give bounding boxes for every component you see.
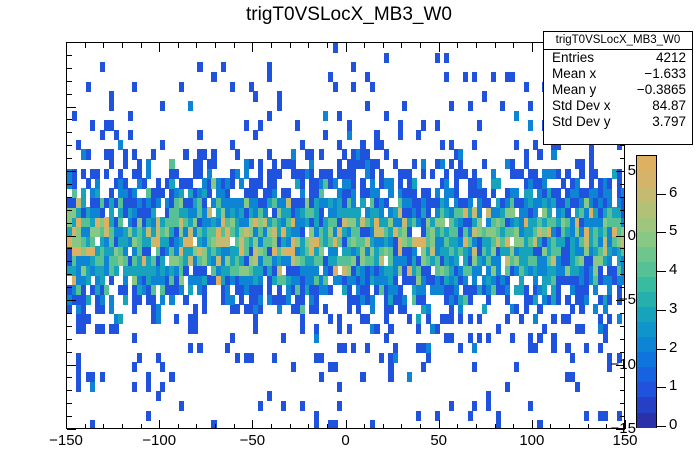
stats-row-key: Entries	[552, 50, 594, 66]
histogram-bin	[109, 295, 114, 305]
histogram-bin	[123, 246, 128, 256]
histogram-bin	[183, 149, 188, 159]
y-minor-tick	[67, 339, 72, 340]
histogram-bin	[556, 285, 561, 295]
histogram-bin	[607, 188, 612, 198]
histogram-bin	[333, 266, 338, 276]
histogram-bin	[156, 198, 161, 208]
x-tick-label: −150	[36, 433, 96, 448]
histogram-bin	[468, 198, 473, 208]
histogram-bin	[258, 169, 263, 179]
histogram-bin	[398, 178, 403, 188]
x-minor-tick	[308, 424, 309, 429]
histogram-bin	[333, 82, 338, 92]
histogram-bin	[579, 169, 584, 179]
x-minor-tick-top	[327, 43, 328, 48]
x-minor-tick-top	[401, 43, 402, 48]
histogram-bin	[589, 159, 594, 169]
histogram-bin	[207, 169, 212, 179]
histogram-bin	[398, 285, 403, 295]
palette-segment	[637, 367, 656, 383]
y-minor-tick-right	[620, 197, 625, 198]
histogram-bin	[356, 207, 361, 217]
histogram-bin	[114, 266, 119, 276]
palette-tick	[657, 426, 666, 427]
histogram-bin	[337, 401, 342, 411]
x-minor-tick	[122, 424, 123, 429]
histogram-bin	[169, 295, 174, 305]
histogram-bin	[435, 324, 440, 334]
histogram-bin	[272, 178, 277, 188]
histogram-bin	[286, 295, 291, 305]
histogram-bin	[202, 285, 207, 295]
histogram-bin	[603, 411, 608, 421]
palette-tick	[657, 232, 666, 233]
histogram-bin	[253, 91, 258, 101]
histogram-bin	[211, 159, 216, 169]
stats-box-rows: Entries4212Mean x−1.633Mean y−0.3865Std …	[544, 50, 692, 130]
histogram-bin	[477, 333, 482, 343]
y-minor-tick	[67, 158, 72, 159]
histogram-bin	[482, 188, 487, 198]
histogram-bin	[370, 169, 375, 179]
histogram-bin	[524, 304, 529, 314]
palette-tick-label: 6	[669, 185, 677, 200]
x-minor-tick	[401, 424, 402, 429]
y-minor-tick	[67, 313, 72, 314]
histogram-bin	[510, 72, 515, 82]
histogram-bin	[351, 198, 356, 208]
histogram-bin	[556, 169, 561, 179]
histogram-bin	[81, 304, 86, 314]
stats-row-key: Std Dev y	[552, 114, 611, 130]
histogram-bin	[281, 333, 286, 343]
histogram-bin	[333, 362, 338, 372]
histogram-bin	[454, 178, 459, 188]
y-minor-tick	[67, 68, 72, 69]
x-major-tick	[66, 420, 67, 429]
histogram-bin	[81, 198, 86, 208]
histogram-bin	[300, 314, 305, 324]
histogram-bin	[486, 401, 491, 411]
histogram-bin	[570, 372, 575, 382]
histogram-bin	[249, 159, 254, 169]
histogram-bin	[258, 120, 263, 130]
histogram-bin	[528, 333, 533, 343]
histogram-bin	[565, 343, 570, 353]
histogram-bin	[123, 295, 128, 305]
palette-segment	[637, 246, 656, 262]
histogram-bin	[109, 101, 114, 111]
histogram-bin	[584, 295, 589, 305]
x-minor-tick-top	[215, 43, 216, 48]
y-major-tick	[67, 236, 76, 237]
histogram-bin	[370, 178, 375, 188]
x-minor-tick-top	[383, 43, 384, 48]
histogram-bin	[598, 266, 603, 276]
histogram-bin	[272, 188, 277, 198]
histogram-bin	[253, 314, 258, 324]
histogram-bin	[156, 304, 161, 314]
histogram-bin	[486, 333, 491, 343]
histogram-bin	[309, 159, 314, 169]
histogram-bin	[505, 314, 510, 324]
y-minor-tick	[67, 326, 72, 327]
histogram-bin	[156, 353, 161, 363]
y-minor-tick	[67, 119, 72, 120]
histogram-bin	[193, 324, 198, 334]
y-minor-tick-right	[620, 416, 625, 417]
histogram-bin	[388, 178, 393, 188]
histogram-bin	[174, 169, 179, 179]
histogram-bin	[468, 411, 473, 421]
histogram-bin	[267, 62, 272, 72]
histogram-bin	[337, 314, 342, 324]
y-major-tick	[67, 365, 76, 366]
histogram-bin	[160, 188, 165, 198]
histogram-bin	[412, 159, 417, 169]
y-major-tick	[67, 429, 76, 430]
y-minor-tick-right	[620, 326, 625, 327]
x-minor-tick-top	[457, 43, 458, 48]
x-major-tick-top	[439, 43, 440, 52]
histogram-bin	[412, 188, 417, 198]
x-minor-tick	[271, 424, 272, 429]
histogram-bin	[207, 207, 212, 217]
histogram-bin	[421, 169, 426, 179]
histogram-bin	[146, 246, 151, 256]
histogram-bin	[300, 188, 305, 198]
histogram-bin	[524, 82, 529, 92]
histogram-bin	[407, 372, 412, 382]
histogram-bin	[188, 237, 193, 247]
x-tick-label: −50	[222, 433, 282, 448]
histogram-bin	[239, 178, 244, 188]
histogram-bin	[570, 304, 575, 314]
histogram-bin	[621, 275, 625, 285]
histogram-bin	[347, 130, 352, 140]
histogram-bin	[109, 91, 114, 101]
histogram-bin	[100, 130, 105, 140]
histogram-bin	[300, 401, 305, 411]
histogram-bin	[156, 314, 161, 324]
histogram-bin	[589, 149, 594, 159]
histogram-bin	[300, 324, 305, 334]
stats-row-value: −0.3865	[637, 82, 686, 98]
x-minor-tick	[327, 424, 328, 429]
histogram-bin	[132, 382, 137, 392]
stats-row-value: −1.633	[644, 66, 686, 82]
histogram-bin	[100, 324, 105, 334]
histogram-bin	[109, 207, 114, 217]
histogram-bin	[454, 188, 459, 198]
histogram-bin	[221, 62, 226, 72]
histogram-bin	[360, 372, 365, 382]
histogram-bin	[458, 343, 463, 353]
histogram-bin	[533, 169, 538, 179]
histogram-bin	[314, 411, 319, 421]
histogram-bin	[528, 120, 533, 130]
histogram-bin	[277, 266, 282, 276]
histogram-bin	[491, 188, 496, 198]
histogram-bin	[556, 295, 561, 305]
histogram-bin	[281, 401, 286, 411]
histogram-bin	[146, 159, 151, 169]
histogram-bin	[435, 120, 440, 130]
histogram-bin	[374, 324, 379, 334]
histogram-bin	[379, 256, 384, 266]
histogram-bin	[347, 304, 352, 314]
histogram-bin	[309, 169, 314, 179]
histogram-bin	[86, 275, 91, 285]
histogram-bin	[235, 149, 240, 159]
histogram-bin	[402, 295, 407, 305]
histogram-bin	[533, 295, 538, 305]
histogram-bin	[486, 198, 491, 208]
histogram-bin	[426, 353, 431, 363]
histogram-bin	[496, 420, 501, 429]
histogram-bin	[514, 140, 519, 150]
y-major-tick	[67, 42, 76, 43]
histogram-bin	[123, 149, 128, 159]
histogram-bin	[267, 391, 272, 401]
x-minor-tick	[141, 424, 142, 429]
histogram-bin	[421, 285, 426, 295]
y-minor-tick-right	[620, 210, 625, 211]
histogram-bin	[109, 120, 114, 130]
histogram-bin	[258, 401, 263, 411]
palette-tick-label: 4	[669, 262, 677, 277]
x-minor-tick-top	[364, 43, 365, 48]
histogram-bin	[258, 304, 263, 314]
y-minor-tick-right	[620, 261, 625, 262]
histogram-bin	[514, 304, 519, 314]
histogram-bin	[81, 188, 86, 198]
histogram-bin	[351, 188, 356, 198]
y-minor-tick-right	[620, 313, 625, 314]
histogram-bin	[146, 372, 151, 382]
histogram-bin	[449, 333, 454, 343]
histogram-bin	[384, 53, 389, 63]
histogram-bin	[384, 149, 389, 159]
histogram-bin	[356, 304, 361, 314]
histogram-bin	[472, 72, 477, 82]
histogram-bin	[496, 324, 501, 334]
histogram-bin	[314, 266, 319, 276]
stats-row: Std Dev y3.797	[544, 114, 692, 130]
palette-tick-label: 5	[669, 223, 677, 238]
histogram-bin	[337, 111, 342, 121]
histogram-bin	[202, 149, 207, 159]
histogram-bin	[468, 333, 473, 343]
histogram-bin	[211, 72, 216, 82]
palette-axis: 0123456	[657, 155, 697, 428]
x-minor-tick	[420, 424, 421, 429]
histogram-bin	[151, 295, 156, 305]
histogram-bin	[114, 130, 119, 140]
histogram-bin	[565, 207, 570, 217]
histogram-bin	[86, 149, 91, 159]
histogram-bin	[449, 304, 454, 314]
histogram-bin	[379, 207, 384, 217]
y-minor-tick	[67, 145, 72, 146]
histogram-bin	[81, 285, 86, 295]
x-minor-tick-top	[234, 43, 235, 48]
histogram-bin	[90, 120, 95, 130]
histogram-bin	[584, 343, 589, 353]
histogram-bin	[114, 324, 119, 334]
histogram-bin	[370, 82, 375, 92]
y-minor-tick-right	[620, 403, 625, 404]
histogram-bin	[426, 314, 431, 324]
histogram-bin	[118, 217, 123, 227]
plot-frame	[66, 42, 625, 429]
histogram-bin	[123, 178, 128, 188]
x-minor-tick	[215, 424, 216, 429]
histogram-bin	[379, 140, 384, 150]
histogram-bin	[253, 130, 258, 140]
histogram-bin	[267, 111, 272, 121]
histogram-bin	[123, 275, 128, 285]
histogram-bin	[365, 314, 370, 324]
histogram-bin	[86, 314, 91, 324]
histogram-bin	[537, 149, 542, 159]
histogram-bin	[472, 169, 477, 179]
histogram-bin	[300, 227, 305, 237]
histogram-bin	[277, 169, 282, 179]
histogram-bin	[188, 343, 193, 353]
histogram-bin	[230, 295, 235, 305]
palette-segment	[637, 307, 656, 323]
histogram-bin	[104, 169, 109, 179]
histogram-bin	[482, 304, 487, 314]
histogram-bin	[319, 372, 324, 382]
histogram-bin	[388, 188, 393, 198]
histogram-bin	[146, 169, 151, 179]
histogram-bin	[370, 295, 375, 305]
histogram-bin	[197, 159, 202, 169]
histogram-bin	[207, 188, 212, 198]
palette-tick-label: 3	[669, 301, 677, 316]
x-major-tick	[532, 420, 533, 429]
x-tick-label: 0	[316, 433, 376, 448]
histogram-bin	[393, 275, 398, 285]
histogram-bin	[589, 178, 594, 188]
histogram-bin	[449, 140, 454, 150]
histogram-bin	[542, 178, 547, 188]
histogram-bin	[132, 333, 137, 343]
x-minor-tick-top	[513, 43, 514, 48]
y-minor-tick	[67, 223, 72, 224]
histogram-bin	[146, 411, 151, 421]
histogram-bin	[277, 285, 282, 295]
histogram-bin	[598, 314, 603, 324]
histogram-bin	[132, 188, 137, 198]
histogram-bin	[472, 343, 477, 353]
histogram-bin	[319, 353, 324, 363]
palette-segment	[637, 156, 656, 172]
histogram-bin	[468, 314, 473, 324]
histogram-bin	[477, 120, 482, 130]
palette-segment	[637, 261, 656, 277]
histogram-bin	[463, 72, 468, 82]
histogram-bin	[319, 246, 324, 256]
histogram-bin	[472, 362, 477, 372]
histogram-bin	[575, 178, 580, 188]
palette-segment	[637, 382, 656, 398]
histogram-bin	[291, 159, 296, 169]
y-major-tick	[67, 107, 76, 108]
histogram-bin	[109, 275, 114, 285]
y-minor-tick-right	[620, 287, 625, 288]
histogram-bin	[477, 266, 482, 276]
histogram-bin	[528, 101, 533, 111]
stats-row: Std Dev x84.87	[544, 98, 692, 114]
histogram-bin	[314, 324, 319, 334]
palette-segment	[637, 397, 656, 413]
histogram-bin	[146, 382, 151, 392]
histogram-bin	[551, 333, 556, 343]
y-minor-tick	[67, 197, 72, 198]
histogram-bin	[542, 324, 547, 334]
x-minor-tick	[290, 424, 291, 429]
histogram-bin	[118, 169, 123, 179]
x-minor-tick	[103, 424, 104, 429]
histogram-bin	[90, 420, 95, 429]
histogram-bin	[314, 295, 319, 305]
histogram-bin	[370, 420, 375, 429]
histogram-bin	[337, 382, 342, 392]
histogram-bin	[225, 188, 230, 198]
stats-row-value: 4212	[656, 50, 686, 66]
histogram-bin	[449, 159, 454, 169]
histogram-bin	[449, 101, 454, 111]
y-minor-tick-right	[620, 145, 625, 146]
histogram-bin	[132, 304, 137, 314]
histogram-bin	[109, 159, 114, 169]
histogram-bin	[533, 275, 538, 285]
palette-segment	[637, 186, 656, 202]
histogram-bin	[463, 275, 468, 285]
histogram-bin	[267, 149, 272, 159]
histogram-bin	[379, 169, 384, 179]
histogram-bin	[384, 198, 389, 208]
histogram-bin	[118, 314, 123, 324]
histogram-bin	[323, 304, 328, 314]
histogram-bin	[570, 353, 575, 363]
y-minor-tick	[67, 416, 72, 417]
histogram-bin	[426, 304, 431, 314]
histogram-bin	[435, 188, 440, 198]
histogram-bin	[621, 207, 625, 217]
histogram-bin	[109, 188, 114, 198]
x-tick-label: −100	[129, 433, 189, 448]
histogram-bin	[137, 295, 142, 305]
y-minor-tick-right	[620, 377, 625, 378]
histogram-bin	[519, 275, 524, 285]
histogram-bin	[458, 159, 463, 169]
x-minor-tick	[476, 424, 477, 429]
histogram-bin	[379, 353, 384, 363]
y-minor-tick-right	[620, 248, 625, 249]
histogram-bin	[76, 140, 81, 150]
x-minor-tick-top	[308, 43, 309, 48]
x-minor-tick	[234, 424, 235, 429]
histogram-bin	[491, 72, 496, 82]
stats-row-value: 84.87	[652, 98, 686, 114]
histogram-bin	[426, 207, 431, 217]
x-minor-tick-top	[420, 43, 421, 48]
